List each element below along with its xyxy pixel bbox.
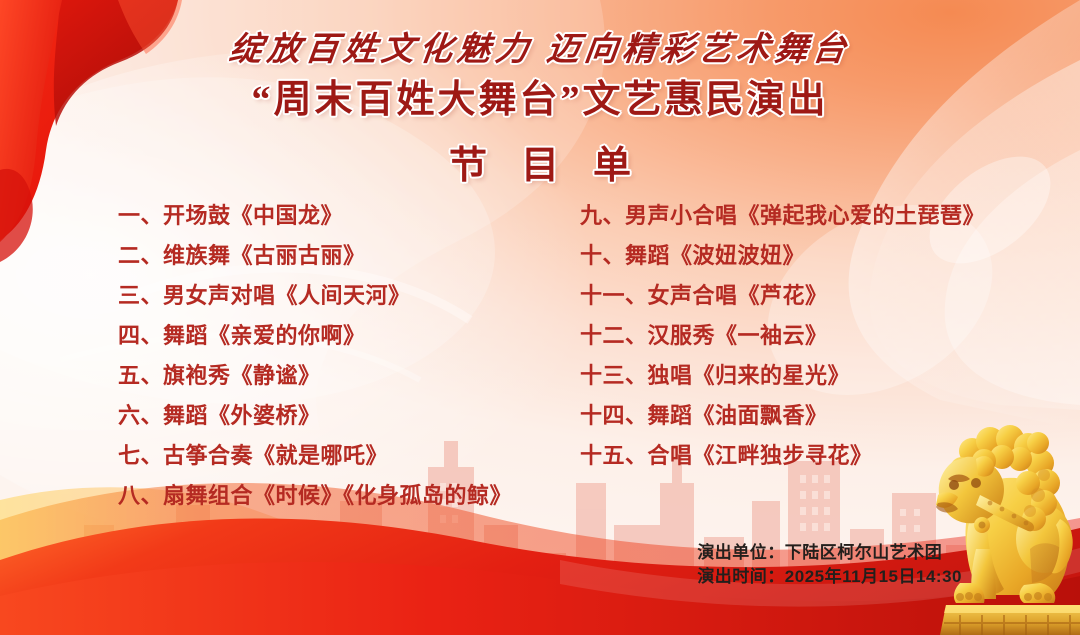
program-item: 二、维族舞《古丽古丽》 (118, 236, 580, 276)
program-item: 七、古筝合奏《就是哪吒》 (118, 436, 580, 476)
program-item: 十二、汉服秀《一袖云》 (580, 316, 1080, 356)
program-item: 十一、女声合唱《芦花》 (580, 276, 1080, 316)
program-item: 十四、舞蹈《油面飘香》 (580, 396, 1080, 436)
program-item: 十三、独唱《归来的星光》 (580, 356, 1080, 396)
program-item: 三、男女声对唱《人间天河》 (118, 276, 580, 316)
performing-unit: 演出单位：下陆区柯尔山艺术团 (697, 541, 962, 565)
poster-sub-title: 节目单 (0, 134, 1080, 189)
poster-kicker: 绽放百姓文化魅力 迈向精彩艺术舞台 (0, 30, 1080, 70)
program-list: 一、开场鼓《中国龙》 二、维族舞《古丽古丽》 三、男女声对唱《人间天河》 四、舞… (0, 196, 1080, 516)
program-column-left: 一、开场鼓《中国龙》 二、维族舞《古丽古丽》 三、男女声对唱《人间天河》 四、舞… (0, 196, 580, 516)
title-block: 绽放百姓文化魅力 迈向精彩艺术舞台 “周末百姓大舞台”文艺惠民演出 节目单 (0, 30, 1080, 189)
program-item: 九、男声小合唱《弹起我心爱的土琵琶》 (580, 196, 1080, 236)
program-item: 一、开场鼓《中国龙》 (118, 196, 580, 236)
program-item: 六、舞蹈《外婆桥》 (118, 396, 580, 436)
program-item: 八、扇舞组合《时候》《化身孤岛的鲸》 (118, 476, 580, 516)
footer-info: 演出单位：下陆区柯尔山艺术团 演出时间：2025年11月15日14:30 (697, 541, 962, 589)
program-item: 十五、合唱《江畔独步寻花》 (580, 436, 1080, 476)
program-item: 四、舞蹈《亲爱的你啊》 (118, 316, 580, 356)
program-column-right: 九、男声小合唱《弹起我心爱的土琵琶》 十、舞蹈《波妞波妞》 十一、女声合唱《芦花… (580, 196, 1080, 516)
program-item: 十、舞蹈《波妞波妞》 (580, 236, 1080, 276)
poster-main-title: “周末百姓大舞台”文艺惠民演出 (0, 76, 1080, 125)
performance-time: 演出时间：2025年11月15日14:30 (697, 565, 962, 589)
program-item: 五、旗袍秀《静谧》 (118, 356, 580, 396)
poster-canvas: 绽放百姓文化魅力 迈向精彩艺术舞台 “周末百姓大舞台”文艺惠民演出 节目单 一、… (0, 0, 1080, 635)
